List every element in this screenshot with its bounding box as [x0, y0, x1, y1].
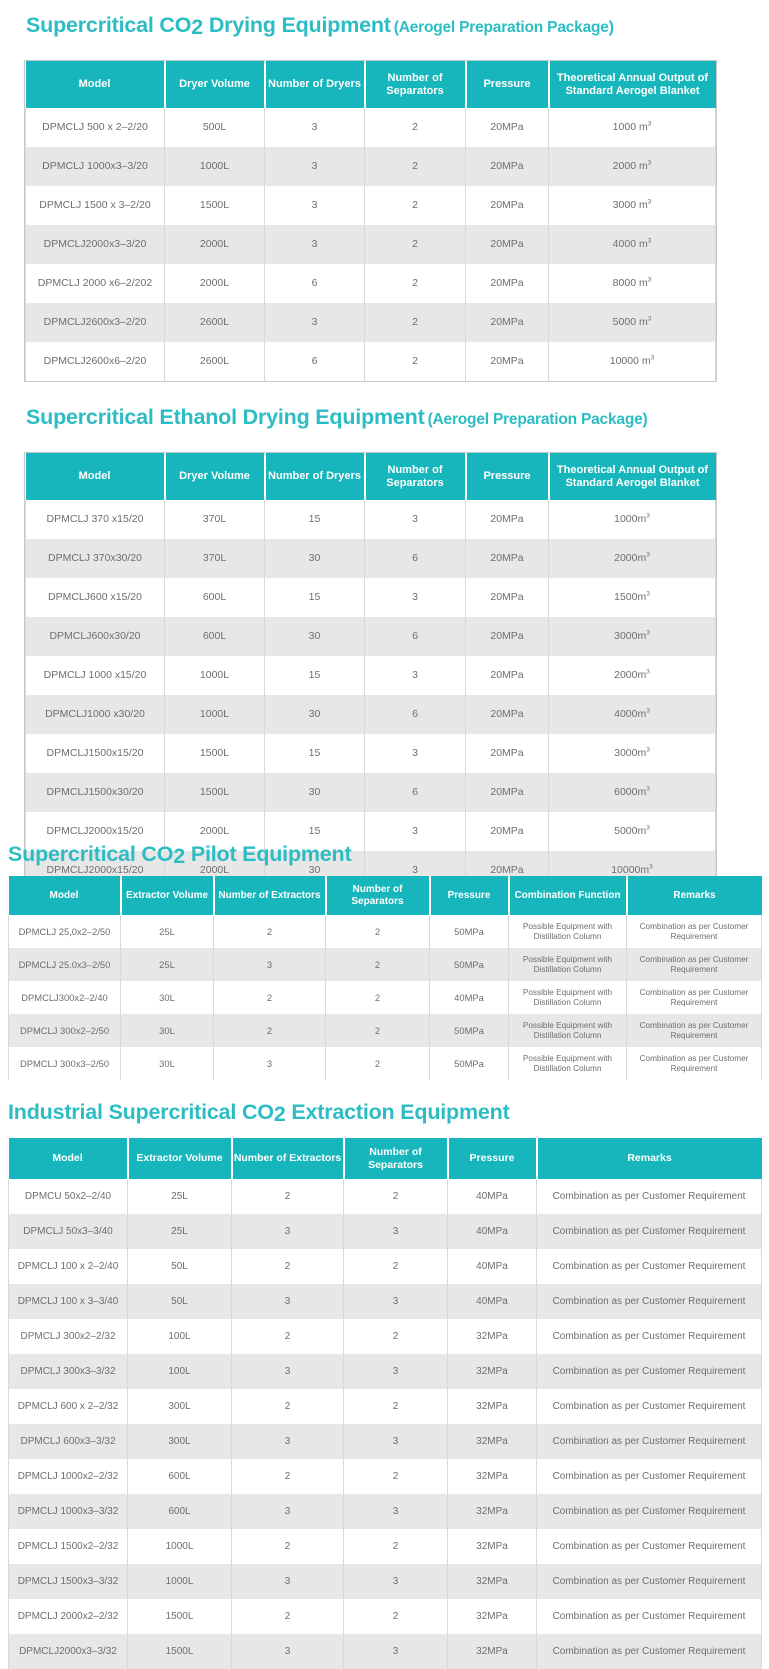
- extra-a-cell: Combination as per Customer Requirement: [537, 1354, 762, 1389]
- pressure-cell: 32MPa: [448, 1459, 537, 1494]
- table-row: DPMCLJ2000x3–3/321500L3332MPaCombination…: [9, 1634, 762, 1669]
- volume-cell: 600L: [165, 617, 265, 656]
- extra-a-cell: 3000m3: [549, 734, 716, 773]
- count-a-cell: 3: [265, 186, 365, 225]
- model-cell: DPMCLJ2000x3–3/20: [26, 225, 165, 264]
- volume-cell: 1000L: [165, 147, 265, 186]
- extra-a-cell: Combination as per Customer Requirement: [537, 1564, 762, 1599]
- count-a-cell: 15: [265, 578, 365, 617]
- model-cell: DPMCLJ 370 x15/20: [26, 500, 165, 539]
- volume-cell: 30L: [121, 981, 214, 1014]
- table-row: DPMCLJ 1000 x15/201000L15320MPa2000m3: [26, 656, 716, 695]
- section-title-parenthetical: (Aerogel Preparation Package): [394, 19, 614, 36]
- count-b-cell: 3: [365, 656, 466, 695]
- col-header-remarks: Remarks: [627, 876, 762, 915]
- section-title-main-rest: Pilot Equipment: [185, 842, 351, 866]
- table-co2-pilot: Model Extractor Volume Number of Extract…: [8, 876, 762, 1080]
- table-row: DPMCLJ 25.0x3–2/5025L3250MPaPossible Equ…: [9, 948, 762, 981]
- section-title-ethanol-drying: Supercritical Ethanol Drying Equipment(A…: [26, 406, 647, 430]
- volume-cell: 2000L: [165, 225, 265, 264]
- col-header-pressure: Pressure: [466, 61, 549, 108]
- pressure-cell: 20MPa: [466, 225, 549, 264]
- table-row: DPMCLJ 600x3–3/32300L3332MPaCombination …: [9, 1424, 762, 1459]
- count-a-cell: 3: [232, 1564, 344, 1599]
- pressure-cell: 32MPa: [448, 1599, 537, 1634]
- count-a-cell: 3: [232, 1424, 344, 1459]
- col-header-model: Model: [26, 453, 165, 500]
- table-row: DPMCLJ 1500x2–2/321000L2232MPaCombinatio…: [9, 1529, 762, 1564]
- count-b-cell: 2: [365, 303, 466, 342]
- count-a-cell: 15: [265, 500, 365, 539]
- col-header-number-of-dryers: Number of Dryers: [265, 61, 365, 108]
- count-a-cell: 3: [232, 1634, 344, 1669]
- col-header-extractor-volume: Extractor Volume: [128, 1138, 232, 1179]
- model-cell: DPMCLJ 1000x2–2/32: [9, 1459, 128, 1494]
- count-a-cell: 2: [214, 1014, 326, 1047]
- col-header-model: Model: [9, 1138, 128, 1179]
- count-a-cell: 6: [265, 342, 365, 381]
- pressure-cell: 40MPa: [430, 981, 509, 1014]
- model-cell: DPMCLJ 370x30/20: [26, 539, 165, 578]
- extra-a-cell: Combination as per Customer Requirement: [537, 1389, 762, 1424]
- pressure-cell: 32MPa: [448, 1319, 537, 1354]
- col-header-number-of-separators: Number of Separators: [365, 453, 466, 500]
- extra-a-cell: Combination as per Customer Requirement: [537, 1179, 762, 1214]
- extra-a-cell: 3000m3: [549, 617, 716, 656]
- extra-a-cell: 4000 m3: [549, 225, 716, 264]
- pressure-cell: 32MPa: [448, 1634, 537, 1669]
- table-row: DPMCLJ 2000x2–2/321500L2232MPaCombinatio…: [9, 1599, 762, 1634]
- volume-cell: 25L: [128, 1179, 232, 1214]
- count-a-cell: 2: [232, 1459, 344, 1494]
- volume-cell: 25L: [121, 948, 214, 981]
- model-cell: DPMCLJ2600x6–2/20: [26, 342, 165, 381]
- count-b-cell: 3: [365, 812, 466, 851]
- table-header-row: Model Dryer Volume Number of Dryers Numb…: [26, 61, 716, 108]
- table-row: DPMCLJ600 x15/20600L15320MPa1500m3: [26, 578, 716, 617]
- table-body: DPMCLJ 500 x 2–2/20500L3220MPa1000 m3DPM…: [26, 108, 716, 381]
- volume-cell: 1500L: [165, 734, 265, 773]
- cubic-superscript: 3: [648, 238, 652, 245]
- pressure-cell: 20MPa: [466, 812, 549, 851]
- table-body: DPMCU 50x2–2/4025L2240MPaCombination as …: [9, 1179, 762, 1669]
- extra-b-cell: Combination as per Customer Requirement: [627, 981, 762, 1014]
- col-header-remarks: Remarks: [537, 1138, 762, 1179]
- section-title-industrial-co2-extraction: Industrial Supercritical CO2 Extraction …: [8, 1101, 510, 1125]
- table-body: DPMCLJ 25,0x2–2/5025L2250MPaPossible Equ…: [9, 915, 762, 1080]
- table-row: DPMCLJ 300x2–2/5030L2250MPaPossible Equi…: [9, 1014, 762, 1047]
- count-a-cell: 30: [265, 539, 365, 578]
- pressure-cell: 20MPa: [466, 108, 549, 147]
- count-a-cell: 3: [265, 108, 365, 147]
- volume-cell: 1000L: [128, 1529, 232, 1564]
- table-row: DPMCU 50x2–2/4025L2240MPaCombination as …: [9, 1179, 762, 1214]
- pressure-cell: 20MPa: [466, 773, 549, 812]
- col-header-combination-function: Combination Function: [509, 876, 627, 915]
- table-row: DPMCLJ1500x15/201500L15320MPa3000m3: [26, 734, 716, 773]
- extra-a-cell: 8000 m3: [549, 264, 716, 303]
- volume-cell: 1500L: [128, 1599, 232, 1634]
- extra-a-cell: 1000 m3: [549, 108, 716, 147]
- pressure-cell: 20MPa: [466, 303, 549, 342]
- cubic-superscript: 3: [648, 277, 652, 284]
- table-header-row: Model Extractor Volume Number of Extract…: [9, 1138, 762, 1179]
- extra-a-cell: Combination as per Customer Requirement: [537, 1529, 762, 1564]
- volume-cell: 600L: [128, 1459, 232, 1494]
- col-header-pressure: Pressure: [430, 876, 509, 915]
- count-a-cell: 3: [265, 303, 365, 342]
- co2-subscript: 2: [191, 15, 203, 39]
- pressure-cell: 20MPa: [466, 147, 549, 186]
- col-header-pressure: Pressure: [448, 1138, 537, 1179]
- count-b-cell: 3: [365, 734, 466, 773]
- count-a-cell: 3: [232, 1284, 344, 1319]
- model-cell: DPMCLJ 300x2–2/32: [9, 1319, 128, 1354]
- volume-cell: 100L: [128, 1319, 232, 1354]
- model-cell: DPMCLJ600x30/20: [26, 617, 165, 656]
- model-cell: DPMCU 50x2–2/40: [9, 1179, 128, 1214]
- count-b-cell: 2: [326, 1014, 430, 1047]
- count-a-cell: 3: [232, 1354, 344, 1389]
- count-b-cell: 3: [344, 1424, 448, 1459]
- model-cell: DPMCLJ 600 x 2–2/32: [9, 1389, 128, 1424]
- extra-b-cell: Combination as per Customer Requirement: [627, 1014, 762, 1047]
- model-cell: DPMCLJ1000 x30/20: [26, 695, 165, 734]
- model-cell: DPMCLJ300x2–2/40: [9, 981, 121, 1014]
- volume-cell: 300L: [128, 1389, 232, 1424]
- count-b-cell: 6: [365, 773, 466, 812]
- table-row: DPMCLJ 370x30/20370L30620MPa2000m3: [26, 539, 716, 578]
- extra-a-cell: Possible Equipment with Distillation Col…: [509, 1047, 627, 1080]
- model-cell: DPMCLJ 1000x3–3/20: [26, 147, 165, 186]
- extra-a-cell: 2000m3: [549, 539, 716, 578]
- volume-cell: 2600L: [165, 342, 265, 381]
- extra-a-cell: 10000 m3: [549, 342, 716, 381]
- col-header-pressure: Pressure: [466, 453, 549, 500]
- pressure-cell: 20MPa: [466, 500, 549, 539]
- extra-a-cell: Combination as per Customer Requirement: [537, 1599, 762, 1634]
- volume-cell: 370L: [165, 500, 265, 539]
- extra-a-cell: Combination as per Customer Requirement: [537, 1459, 762, 1494]
- pressure-cell: 20MPa: [466, 342, 549, 381]
- extra-a-cell: Possible Equipment with Distillation Col…: [509, 915, 627, 948]
- volume-cell: 1000L: [165, 656, 265, 695]
- col-header-extractor-volume: Extractor Volume: [121, 876, 214, 915]
- cubic-superscript: 3: [646, 708, 650, 715]
- pressure-cell: 40MPa: [448, 1214, 537, 1249]
- table-row: DPMCLJ 2000 x6–2/2022000L6220MPa8000 m3: [26, 264, 716, 303]
- count-a-cell: 2: [232, 1529, 344, 1564]
- table-row: DPMCLJ 370 x15/20370L15320MPa1000m3: [26, 500, 716, 539]
- count-b-cell: 2: [344, 1319, 448, 1354]
- extra-b-cell: Combination as per Customer Requirement: [627, 948, 762, 981]
- pressure-cell: 20MPa: [466, 578, 549, 617]
- extra-a-cell: 5000m3: [549, 812, 716, 851]
- extra-a-cell: Possible Equipment with Distillation Col…: [509, 1014, 627, 1047]
- table-wrapper-co2-drying: Model Dryer Volume Number of Dryers Numb…: [24, 60, 717, 382]
- table-row: DPMCLJ 300x3–3/32100L3332MPaCombination …: [9, 1354, 762, 1389]
- count-a-cell: 2: [232, 1249, 344, 1284]
- pressure-cell: 32MPa: [448, 1389, 537, 1424]
- section-title-main-text: Industrial Supercritical CO: [8, 1100, 274, 1124]
- table-row: DPMCLJ 300x2–2/32100L2232MPaCombination …: [9, 1319, 762, 1354]
- count-b-cell: 6: [365, 695, 466, 734]
- model-cell: DPMCLJ 300x3–2/50: [9, 1047, 121, 1080]
- volume-cell: 1500L: [165, 186, 265, 225]
- pressure-cell: 20MPa: [466, 617, 549, 656]
- count-b-cell: 2: [344, 1529, 448, 1564]
- cubic-superscript: 3: [646, 591, 650, 598]
- count-a-cell: 2: [214, 915, 326, 948]
- pressure-cell: 40MPa: [448, 1179, 537, 1214]
- table-row: DPMCLJ 25,0x2–2/5025L2250MPaPossible Equ…: [9, 915, 762, 948]
- co2-subscript: 2: [274, 1102, 286, 1126]
- table-header-row: Model Dryer Volume Number of Dryers Numb…: [26, 453, 716, 500]
- model-cell: DPMCLJ 1500 x 3–2/20: [26, 186, 165, 225]
- col-header-number-of-separators: Number of Separators: [365, 61, 466, 108]
- pressure-cell: 20MPa: [466, 734, 549, 773]
- table-row: DPMCLJ2600x6–2/202600L6220MPa10000 m3: [26, 342, 716, 381]
- count-b-cell: 3: [344, 1494, 448, 1529]
- extra-a-cell: 1500m3: [549, 578, 716, 617]
- co2-subscript: 2: [173, 844, 185, 868]
- col-header-number-of-extractors: Number of Extractors: [214, 876, 326, 915]
- table-row: DPMCLJ2600x3–2/202600L3220MPa5000 m3: [26, 303, 716, 342]
- table-row: DPMCLJ 1000x3–3/32600L3332MPaCombination…: [9, 1494, 762, 1529]
- model-cell: DPMCLJ600 x15/20: [26, 578, 165, 617]
- count-a-cell: 3: [214, 948, 326, 981]
- pressure-cell: 20MPa: [466, 695, 549, 734]
- count-b-cell: 2: [344, 1249, 448, 1284]
- count-b-cell: 2: [344, 1459, 448, 1494]
- table-row: DPMCLJ 1500 x 3–2/201500L3220MPa3000 m3: [26, 186, 716, 225]
- table-row: DPMCLJ1000 x30/201000L30620MPa4000m3: [26, 695, 716, 734]
- col-header-model: Model: [9, 876, 121, 915]
- volume-cell: 25L: [121, 915, 214, 948]
- model-cell: DPMCLJ 1500x3–3/32: [9, 1564, 128, 1599]
- volume-cell: 25L: [128, 1214, 232, 1249]
- extra-a-cell: 5000 m3: [549, 303, 716, 342]
- pressure-cell: 20MPa: [466, 656, 549, 695]
- col-header-theoretical-output: Theoretical Annual Output of Standard Ae…: [549, 61, 716, 108]
- count-a-cell: 2: [232, 1319, 344, 1354]
- extra-a-cell: 2000 m3: [549, 147, 716, 186]
- pressure-cell: 50MPa: [430, 948, 509, 981]
- volume-cell: 600L: [165, 578, 265, 617]
- section-title-co2-pilot: Supercritical CO2 Pilot Equipment: [8, 843, 351, 867]
- volume-cell: 100L: [128, 1354, 232, 1389]
- table-row: DPMCLJ 1000x2–2/32600L2232MPaCombination…: [9, 1459, 762, 1494]
- count-b-cell: 2: [326, 915, 430, 948]
- volume-cell: 1500L: [165, 773, 265, 812]
- extra-a-cell: Combination as per Customer Requirement: [537, 1319, 762, 1354]
- count-b-cell: 2: [365, 147, 466, 186]
- volume-cell: 600L: [128, 1494, 232, 1529]
- col-header-number-of-separators: Number of Separators: [326, 876, 430, 915]
- pressure-cell: 50MPa: [430, 1047, 509, 1080]
- section-title-main-text: Supercritical CO: [26, 13, 191, 37]
- count-b-cell: 2: [326, 1047, 430, 1080]
- cubic-superscript: 3: [649, 864, 653, 871]
- model-cell: DPMCLJ 500 x 2–2/20: [26, 108, 165, 147]
- count-b-cell: 6: [365, 617, 466, 656]
- count-a-cell: 6: [265, 264, 365, 303]
- count-a-cell: 3: [265, 147, 365, 186]
- table-row: DPMCLJ 50x3–3/4025L3340MPaCombination as…: [9, 1214, 762, 1249]
- section-title-main-rest: Drying Equipment: [203, 13, 391, 37]
- extra-a-cell: 4000m3: [549, 695, 716, 734]
- count-a-cell: 30: [265, 617, 365, 656]
- col-header-model: Model: [26, 61, 165, 108]
- extra-b-cell: Combination as per Customer Requirement: [627, 915, 762, 948]
- count-b-cell: 2: [344, 1179, 448, 1214]
- extra-a-cell: Combination as per Customer Requirement: [537, 1214, 762, 1249]
- col-header-number-of-dryers: Number of Dryers: [265, 453, 365, 500]
- pressure-cell: 20MPa: [466, 264, 549, 303]
- count-b-cell: 6: [365, 539, 466, 578]
- count-b-cell: 2: [365, 186, 466, 225]
- volume-cell: 30L: [121, 1014, 214, 1047]
- count-b-cell: 3: [344, 1564, 448, 1599]
- count-b-cell: 2: [344, 1599, 448, 1634]
- volume-cell: 30L: [121, 1047, 214, 1080]
- count-a-cell: 15: [265, 656, 365, 695]
- table-row: DPMCLJ300x2–2/4030L2240MPaPossible Equip…: [9, 981, 762, 1014]
- volume-cell: 300L: [128, 1424, 232, 1459]
- extra-a-cell: Possible Equipment with Distillation Col…: [509, 981, 627, 1014]
- extra-a-cell: 6000m3: [549, 773, 716, 812]
- section-title-main-text: Supercritical Ethanol Drying Equipment: [26, 405, 425, 429]
- extra-a-cell: 1000m3: [549, 500, 716, 539]
- table-ethanol-drying: Model Dryer Volume Number of Dryers Numb…: [25, 453, 716, 890]
- cubic-superscript: 3: [648, 160, 652, 167]
- count-b-cell: 3: [365, 500, 466, 539]
- table-row: DPMCLJ 300x3–2/5030L3250MPaPossible Equi…: [9, 1047, 762, 1080]
- table-row: DPMCLJ 100 x 3–3/4050L3340MPaCombination…: [9, 1284, 762, 1319]
- extra-a-cell: Combination as per Customer Requirement: [537, 1634, 762, 1669]
- model-cell: DPMCLJ1500x15/20: [26, 734, 165, 773]
- count-a-cell: 2: [232, 1179, 344, 1214]
- count-a-cell: 2: [232, 1389, 344, 1424]
- model-cell: DPMCLJ2000x3–3/32: [9, 1634, 128, 1669]
- table-wrapper-co2-pilot: Model Extractor Volume Number of Extract…: [8, 876, 762, 1080]
- volume-cell: 2000L: [165, 264, 265, 303]
- pressure-cell: 32MPa: [448, 1424, 537, 1459]
- volume-cell: 1000L: [128, 1564, 232, 1599]
- cubic-superscript: 3: [648, 316, 652, 323]
- model-cell: DPMCLJ2600x3–2/20: [26, 303, 165, 342]
- count-a-cell: 3: [265, 225, 365, 264]
- table-row: DPMCLJ 1500x3–3/321000L3332MPaCombinatio…: [9, 1564, 762, 1599]
- pressure-cell: 40MPa: [448, 1284, 537, 1319]
- table-row: DPMCLJ2000x3–3/202000L3220MPa4000 m3: [26, 225, 716, 264]
- extra-a-cell: Combination as per Customer Requirement: [537, 1249, 762, 1284]
- count-a-cell: 3: [232, 1214, 344, 1249]
- table-co2-drying: Model Dryer Volume Number of Dryers Numb…: [25, 61, 716, 381]
- cubic-superscript: 3: [646, 786, 650, 793]
- cubic-superscript: 3: [646, 552, 650, 559]
- col-header-number-of-separators: Number of Separators: [344, 1138, 448, 1179]
- cubic-superscript: 3: [648, 199, 652, 206]
- extra-a-cell: 2000m3: [549, 656, 716, 695]
- count-b-cell: 3: [344, 1634, 448, 1669]
- model-cell: DPMCLJ 25.0x3–2/50: [9, 948, 121, 981]
- col-header-dryer-volume: Dryer Volume: [165, 453, 265, 500]
- table-body: DPMCLJ 370 x15/20370L15320MPa1000m3DPMCL…: [26, 500, 716, 890]
- count-b-cell: 3: [344, 1284, 448, 1319]
- count-b-cell: 2: [365, 108, 466, 147]
- table-row: DPMCLJ 600 x 2–2/32300L2232MPaCombinatio…: [9, 1389, 762, 1424]
- model-cell: DPMCLJ 100 x 2–2/40: [9, 1249, 128, 1284]
- section-title-co2-drying: Supercritical CO2 Drying Equipment(Aerog…: [26, 14, 614, 38]
- model-cell: DPMCLJ 600x3–3/32: [9, 1424, 128, 1459]
- count-b-cell: 2: [365, 342, 466, 381]
- table-row: DPMCLJ 500 x 2–2/20500L3220MPa1000 m3: [26, 108, 716, 147]
- table-row: DPMCLJ600x30/20600L30620MPa3000m3: [26, 617, 716, 656]
- pressure-cell: 40MPa: [448, 1249, 537, 1284]
- pressure-cell: 32MPa: [448, 1354, 537, 1389]
- model-cell: DPMCLJ 100 x 3–3/40: [9, 1284, 128, 1319]
- pressure-cell: 32MPa: [448, 1529, 537, 1564]
- model-cell: DPMCLJ 300x3–3/32: [9, 1354, 128, 1389]
- volume-cell: 370L: [165, 539, 265, 578]
- volume-cell: 2600L: [165, 303, 265, 342]
- col-header-theoretical-output: Theoretical Annual Output of Standard Ae…: [549, 453, 716, 500]
- pressure-cell: 32MPa: [448, 1494, 537, 1529]
- table-header-row: Model Extractor Volume Number of Extract…: [9, 876, 762, 915]
- cubic-superscript: 3: [646, 513, 650, 520]
- extra-a-cell: 3000 m3: [549, 186, 716, 225]
- model-cell: DPMCLJ 50x3–3/40: [9, 1214, 128, 1249]
- pressure-cell: 20MPa: [466, 186, 549, 225]
- pressure-cell: 50MPa: [430, 1014, 509, 1047]
- extra-a-cell: Combination as per Customer Requirement: [537, 1284, 762, 1319]
- volume-cell: 1500L: [128, 1634, 232, 1669]
- model-cell: DPMCLJ 1000 x15/20: [26, 656, 165, 695]
- count-a-cell: 15: [265, 734, 365, 773]
- count-b-cell: 2: [326, 948, 430, 981]
- count-b-cell: 3: [365, 578, 466, 617]
- pressure-cell: 50MPa: [430, 915, 509, 948]
- count-b-cell: 2: [365, 225, 466, 264]
- cubic-superscript: 3: [651, 355, 655, 362]
- model-cell: DPMCLJ 1000x3–3/32: [9, 1494, 128, 1529]
- pressure-cell: 20MPa: [466, 539, 549, 578]
- cubic-superscript: 3: [648, 121, 652, 128]
- cubic-superscript: 3: [646, 669, 650, 676]
- model-cell: DPMCLJ 2000x2–2/32: [9, 1599, 128, 1634]
- volume-cell: 500L: [165, 108, 265, 147]
- cubic-superscript: 3: [646, 825, 650, 832]
- count-b-cell: 2: [344, 1389, 448, 1424]
- model-cell: DPMCLJ1500x30/20: [26, 773, 165, 812]
- cubic-superscript: 3: [646, 630, 650, 637]
- model-cell: DPMCLJ 1500x2–2/32: [9, 1529, 128, 1564]
- section-title-main-text: Supercritical CO: [8, 842, 173, 866]
- table-row: DPMCLJ 1000x3–3/201000L3220MPa2000 m3: [26, 147, 716, 186]
- count-a-cell: 3: [232, 1494, 344, 1529]
- col-header-dryer-volume: Dryer Volume: [165, 61, 265, 108]
- count-a-cell: 2: [214, 981, 326, 1014]
- count-b-cell: 3: [344, 1354, 448, 1389]
- extra-a-cell: Combination as per Customer Requirement: [537, 1494, 762, 1529]
- table-wrapper-industrial-co2-extraction: Model Extractor Volume Number of Extract…: [8, 1138, 762, 1669]
- cubic-superscript: 3: [646, 747, 650, 754]
- extra-a-cell: Combination as per Customer Requirement: [537, 1424, 762, 1459]
- count-a-cell: 30: [265, 695, 365, 734]
- volume-cell: 1000L: [165, 695, 265, 734]
- volume-cell: 50L: [128, 1284, 232, 1319]
